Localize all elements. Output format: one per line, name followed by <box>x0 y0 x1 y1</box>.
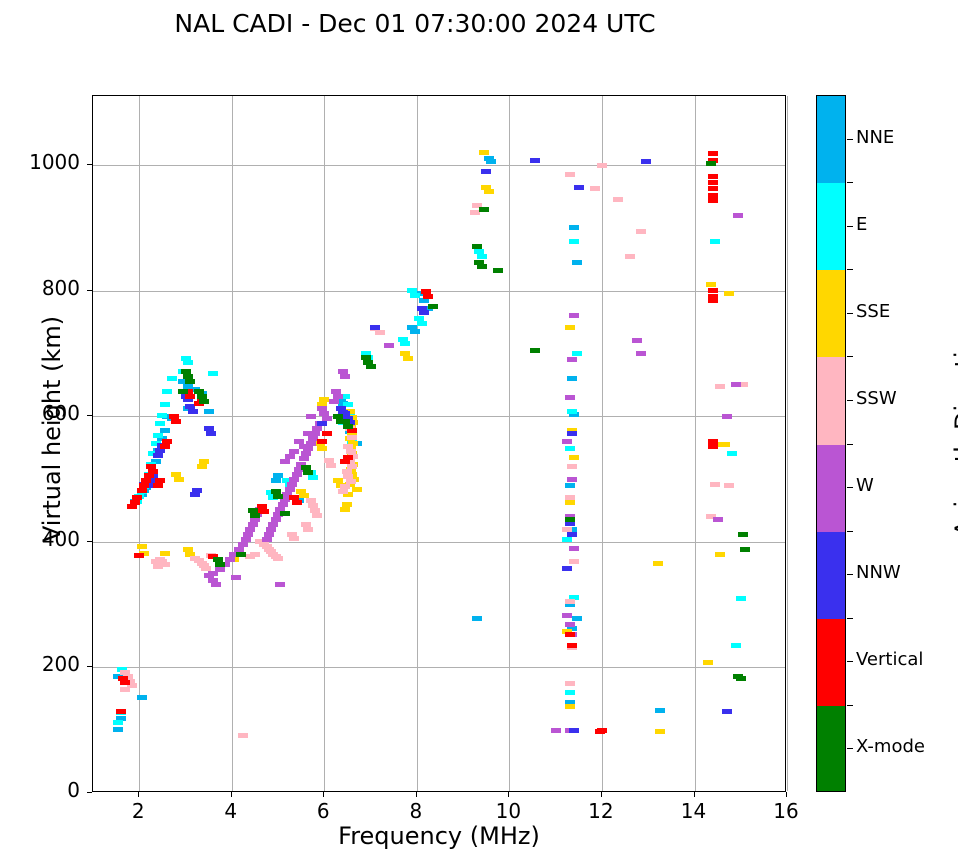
data-point <box>120 680 130 685</box>
data-point <box>137 695 147 700</box>
data-point <box>706 282 716 287</box>
data-point <box>336 419 346 424</box>
data-point <box>151 559 161 564</box>
data-point <box>116 709 126 714</box>
data-point <box>174 477 184 482</box>
colorbar-tick <box>847 487 853 488</box>
colorbar-tick <box>847 748 853 749</box>
data-point <box>565 690 575 695</box>
data-point <box>317 446 327 451</box>
data-point <box>340 507 350 512</box>
data-point <box>569 225 579 230</box>
data-point <box>479 207 489 212</box>
colorbar-gradient <box>816 95 846 792</box>
data-point <box>317 421 327 426</box>
colorbar-label-nne: NNE <box>856 127 894 148</box>
data-point <box>171 419 181 424</box>
colorbar-label-nnw: NNW <box>856 562 901 583</box>
data-point <box>197 464 207 469</box>
data-point <box>338 489 348 494</box>
data-point <box>366 364 376 369</box>
colorbar-label-x-mode: X-mode <box>856 736 925 757</box>
x-tick-label: 2 <box>108 799 168 823</box>
data-point <box>153 433 163 438</box>
data-point <box>569 559 579 564</box>
colorbar-tick <box>847 313 853 314</box>
data-point <box>183 360 193 365</box>
colorbar-boundary-tick <box>847 618 853 619</box>
colorbar-segment-w <box>817 445 845 532</box>
colorbar-segment-vertical <box>817 619 845 706</box>
data-point <box>215 562 225 567</box>
data-point <box>632 338 642 343</box>
data-point <box>597 163 607 168</box>
colorbar-segment-nnw <box>817 532 845 619</box>
data-point <box>303 470 313 475</box>
data-point <box>569 455 579 460</box>
data-point <box>322 431 332 436</box>
data-point <box>280 459 290 464</box>
data-point <box>312 513 322 518</box>
data-point <box>375 330 385 335</box>
x-tick-label: 10 <box>478 799 538 823</box>
data-point <box>565 483 575 488</box>
data-point <box>370 325 380 330</box>
data-point <box>565 446 575 451</box>
data-point <box>410 293 420 298</box>
data-point <box>708 151 718 156</box>
data-point <box>481 169 491 174</box>
data-point <box>713 517 723 522</box>
data-point <box>231 575 241 580</box>
data-point <box>530 158 540 163</box>
data-point <box>738 532 748 537</box>
data-point <box>706 161 716 166</box>
colorbar-label-w: W <box>856 475 874 496</box>
x-tick-label: 8 <box>386 799 446 823</box>
data-point <box>306 414 316 419</box>
x-tick <box>601 792 602 797</box>
data-point <box>477 264 487 269</box>
data-point <box>655 729 665 734</box>
page-title: NAL CADI - Dec 01 07:30:00 2024 UTC <box>0 9 830 38</box>
colorbar-boundary-tick <box>847 182 853 183</box>
data-point <box>289 536 299 541</box>
data-point <box>572 351 582 356</box>
data-point <box>567 477 577 482</box>
x-tick <box>416 792 417 797</box>
data-point <box>134 553 144 558</box>
data-point <box>562 613 572 618</box>
data-point <box>569 239 579 244</box>
data-point <box>347 435 357 440</box>
data-point <box>423 294 433 299</box>
y-tick-label: 1000 <box>20 150 80 174</box>
data-point <box>317 439 327 444</box>
data-point <box>569 728 579 733</box>
data-point <box>113 727 123 732</box>
data-point <box>736 596 746 601</box>
data-point <box>178 389 188 394</box>
data-point <box>565 495 575 500</box>
colorbar-boundary-tick <box>847 705 853 706</box>
colorbar <box>816 95 846 792</box>
data-point <box>720 442 730 447</box>
data-point <box>352 487 362 492</box>
data-point <box>708 198 718 203</box>
colorbar-label-ssw: SSW <box>856 388 897 409</box>
data-point <box>530 348 540 353</box>
data-point <box>137 544 147 549</box>
data-point <box>703 660 713 665</box>
x-tick <box>138 792 139 797</box>
colorbar-boundary-tick <box>847 269 853 270</box>
data-point <box>204 409 214 414</box>
data-point <box>562 439 572 444</box>
data-point <box>484 189 494 194</box>
data-point <box>731 643 741 648</box>
colorbar-segment-x-mode <box>817 706 845 792</box>
data-point <box>275 582 285 587</box>
data-point <box>710 482 720 487</box>
data-point <box>565 599 575 604</box>
data-point <box>486 159 496 164</box>
data-point <box>641 159 651 164</box>
data-point <box>127 504 137 509</box>
y-axis-label: Virtual height (km) <box>38 249 66 609</box>
data-point <box>590 186 600 191</box>
data-point <box>636 229 646 234</box>
data-point <box>655 708 665 713</box>
colorbar-tick <box>847 661 853 662</box>
y-tick <box>87 415 92 416</box>
y-tick <box>87 290 92 291</box>
data-point <box>326 463 336 468</box>
x-tick-label: 14 <box>664 799 724 823</box>
gridline-vertical <box>787 96 788 791</box>
data-point <box>137 488 147 493</box>
data-point <box>724 291 734 296</box>
data-point <box>567 357 577 362</box>
y-tick-label: 0 <box>20 778 80 802</box>
data-point <box>569 313 579 318</box>
x-tick-label: 16 <box>756 799 816 823</box>
data-point <box>384 343 394 348</box>
data-point <box>153 483 163 488</box>
x-tick-label: 4 <box>201 799 261 823</box>
y-tick <box>87 792 92 793</box>
data-point <box>153 453 163 458</box>
data-point <box>208 371 218 376</box>
data-point <box>565 704 575 709</box>
data-point <box>428 304 438 309</box>
data-point <box>185 394 195 399</box>
data-point <box>565 172 575 177</box>
scatter-markers <box>93 96 785 791</box>
data-point <box>562 566 572 571</box>
colorbar-tick <box>847 226 853 227</box>
data-point <box>153 564 163 569</box>
data-point <box>245 554 255 559</box>
data-point <box>199 399 209 404</box>
data-point <box>190 492 200 497</box>
data-point <box>595 729 605 734</box>
data-point <box>157 413 167 418</box>
data-point <box>710 239 720 244</box>
data-point <box>329 399 339 404</box>
data-point <box>733 674 743 679</box>
data-point <box>565 632 575 637</box>
data-point <box>211 582 221 587</box>
data-point <box>271 478 281 483</box>
data-point <box>303 431 313 436</box>
data-point <box>250 513 260 518</box>
x-tick <box>786 792 787 797</box>
data-point <box>472 244 482 249</box>
data-point <box>162 389 172 394</box>
x-tick-label: 6 <box>293 799 353 823</box>
colorbar-boundary-tick <box>847 444 853 445</box>
data-point <box>708 174 718 179</box>
data-point <box>715 384 725 389</box>
data-point <box>613 197 623 202</box>
data-point <box>551 728 561 733</box>
colorbar-segment-ssw <box>817 357 845 444</box>
data-point <box>160 444 170 449</box>
data-point <box>708 298 718 303</box>
data-point <box>343 424 353 429</box>
data-point <box>479 150 489 155</box>
x-tick <box>323 792 324 797</box>
data-point <box>708 288 718 293</box>
data-point <box>567 532 577 537</box>
colorbar-title: Azimuth Direction <box>950 249 958 609</box>
data-point <box>715 552 725 557</box>
data-point <box>262 537 272 542</box>
data-point <box>625 254 635 259</box>
data-point <box>562 537 572 542</box>
data-point <box>185 379 195 384</box>
data-point <box>636 351 646 356</box>
data-point <box>724 483 734 488</box>
data-point <box>731 382 741 387</box>
data-point <box>292 500 302 505</box>
x-tick <box>231 792 232 797</box>
data-point <box>567 409 577 414</box>
data-point <box>113 720 123 725</box>
data-point <box>403 356 413 361</box>
colorbar-segment-sse <box>817 270 845 357</box>
data-point <box>567 431 577 436</box>
data-point <box>155 421 165 426</box>
data-point <box>417 321 427 326</box>
data-point <box>273 494 283 499</box>
data-point <box>722 414 732 419</box>
y-tick <box>87 666 92 667</box>
data-point <box>477 254 487 259</box>
data-point <box>472 616 482 621</box>
data-point <box>567 643 577 648</box>
data-point <box>733 213 743 218</box>
data-point <box>708 180 718 185</box>
colorbar-segment-e <box>817 183 845 270</box>
data-point <box>120 687 130 692</box>
y-tick-label: 200 <box>20 652 80 676</box>
data-point <box>653 561 663 566</box>
data-point <box>567 376 577 381</box>
data-point <box>565 622 575 627</box>
data-point <box>565 325 575 330</box>
data-point <box>572 616 582 621</box>
data-point <box>419 310 429 315</box>
x-axis-label: Frequency (MHz) <box>92 822 786 850</box>
colorbar-segment-nne <box>817 96 845 183</box>
data-point <box>565 681 575 686</box>
data-point <box>410 329 420 334</box>
data-point <box>565 395 575 400</box>
data-point <box>190 556 200 561</box>
data-point <box>167 376 177 381</box>
data-point <box>273 556 283 561</box>
data-point <box>727 451 737 456</box>
x-tick-label: 12 <box>571 799 631 823</box>
y-tick <box>87 541 92 542</box>
colorbar-label-sse: SSE <box>856 301 890 322</box>
data-point <box>299 444 309 449</box>
data-point <box>280 511 290 516</box>
colorbar-tick <box>847 139 853 140</box>
data-point <box>574 185 584 190</box>
data-point <box>708 444 718 449</box>
x-tick <box>694 792 695 797</box>
x-tick <box>508 792 509 797</box>
data-point <box>238 733 248 738</box>
colorbar-label-vertical: Vertical <box>856 649 923 670</box>
data-point <box>160 551 170 556</box>
data-point <box>567 464 577 469</box>
colorbar-label-e: E <box>856 214 867 235</box>
colorbar-boundary-tick <box>847 531 853 532</box>
data-point <box>722 709 732 714</box>
colorbar-tick <box>847 574 853 575</box>
plot-area <box>92 95 786 792</box>
data-point <box>400 341 410 346</box>
colorbar-tick <box>847 400 853 401</box>
data-point <box>565 500 575 505</box>
colorbar-boundary-tick <box>847 356 853 357</box>
data-point <box>340 459 350 464</box>
data-point <box>572 260 582 265</box>
data-point <box>493 268 503 273</box>
data-point <box>188 409 198 414</box>
data-point <box>236 552 246 557</box>
data-point <box>565 517 575 522</box>
data-point <box>206 431 216 436</box>
data-point <box>569 546 579 551</box>
y-tick <box>87 164 92 165</box>
data-point <box>160 402 170 407</box>
data-point <box>340 374 350 379</box>
data-point <box>740 547 750 552</box>
data-point <box>708 186 718 191</box>
data-point <box>308 475 318 480</box>
data-point <box>303 527 313 532</box>
